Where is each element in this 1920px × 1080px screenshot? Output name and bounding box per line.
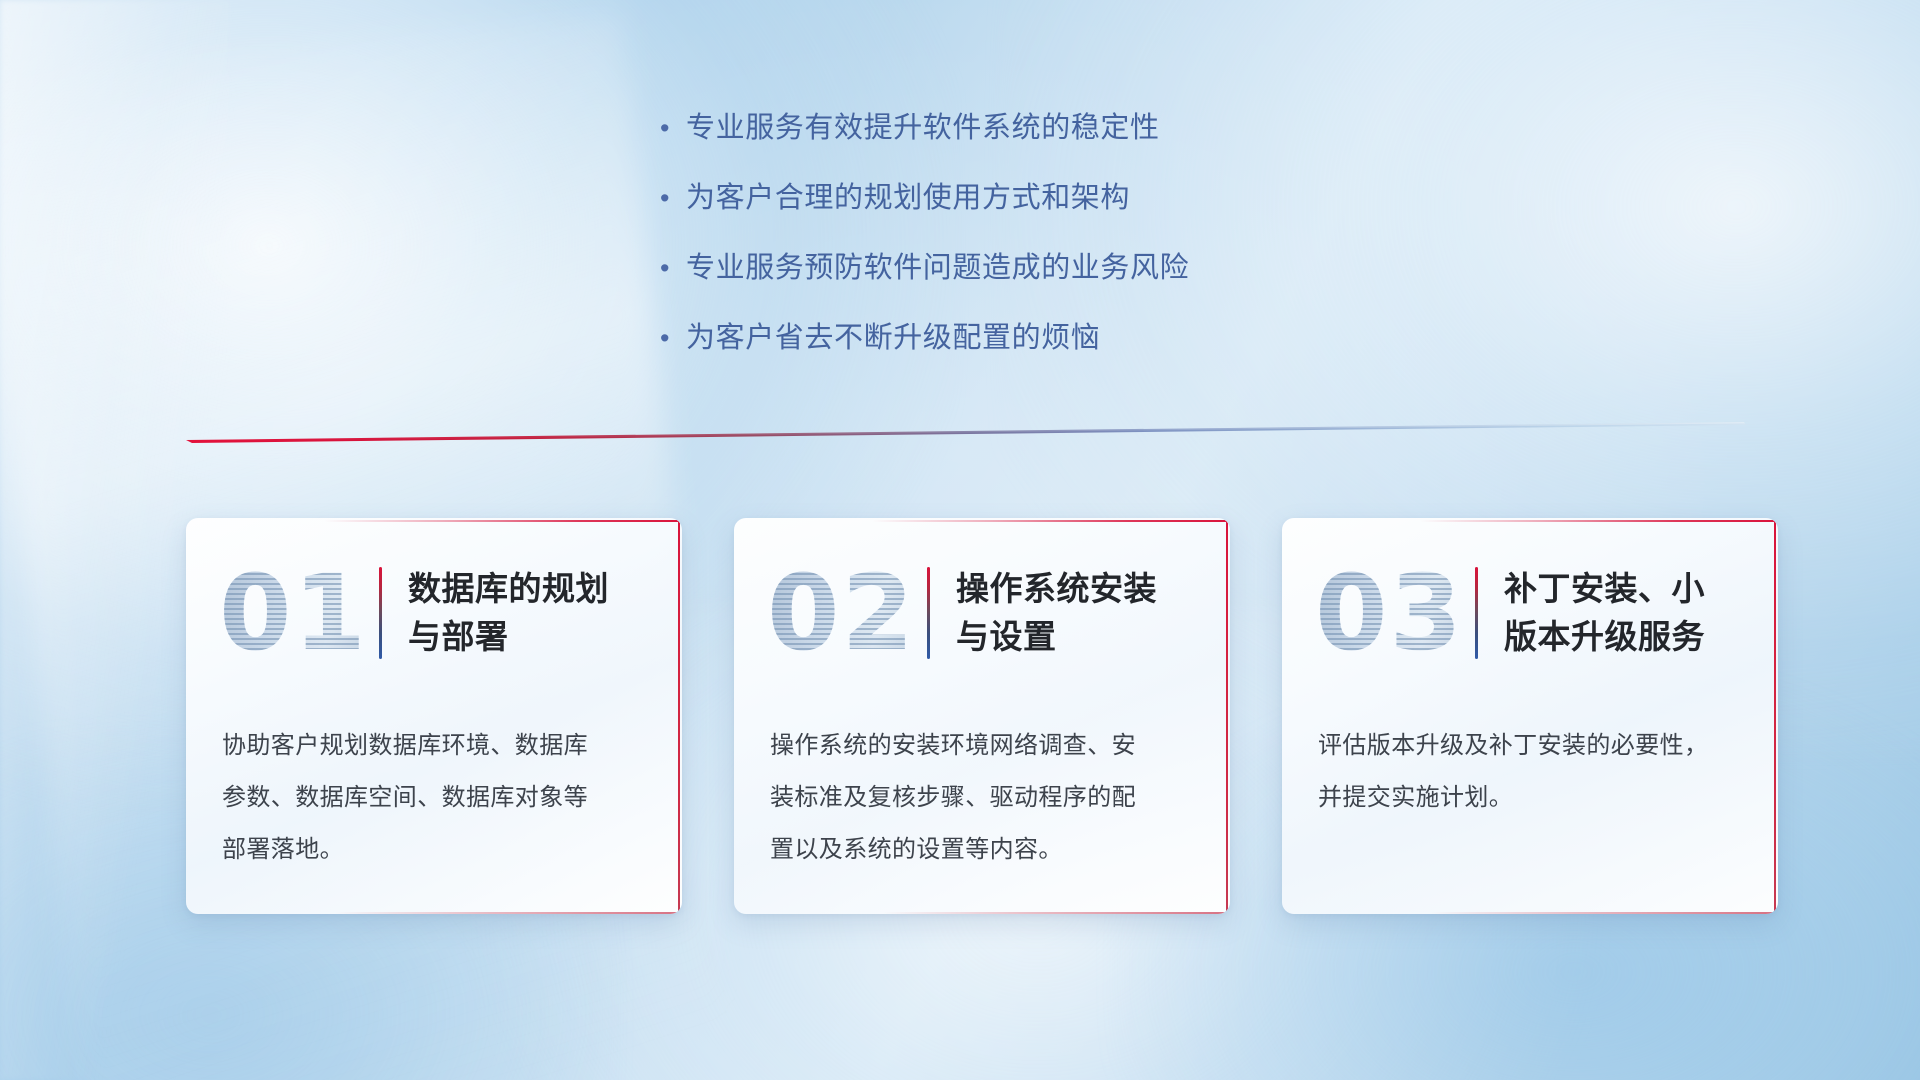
card-title-line: 数据库的规划 [408,570,609,607]
benefits-bullet-list: • 专业服务有效提升软件系统的稳定性 • 为客户合理的规划使用方式和架构 • 专… [660,108,1460,388]
bullet-text: 为客户合理的规划使用方式和架构 [686,178,1130,219]
card-body: 评估版本升级及补丁安装的必要性， 并提交实施计划。 [1282,678,1778,862]
bullet-text: 为客户省去不断升级配置的烦恼 [686,318,1100,359]
service-card-list: 01 数据库的规划 与部署 协助客户规划数据库环境、数据库 参数、数据库空间、数… [186,518,1778,914]
card-title-line: 与设置 [956,618,1057,655]
card-body-line: 部署落地。 [222,824,646,876]
card-number: 03 [1312,561,1467,665]
list-item: • 为客户合理的规划使用方式和架构 [660,178,1460,219]
bullet-marker-icon: • [660,248,686,289]
service-card-03[interactable]: 03 补丁安装、小 版本升级服务 评估版本升级及补丁安装的必要性， 并提交实施计… [1282,518,1778,914]
card-body-line: 并提交实施计划。 [1318,772,1742,824]
card-title-line: 操作系统安装 [956,570,1157,607]
card-header: 03 补丁安装、小 版本升级服务 [1282,518,1778,678]
card-number: 02 [764,561,919,665]
list-item: • 为客户省去不断升级配置的烦恼 [660,318,1460,359]
card-body-line: 操作系统的安装环境网络调查、安 [770,720,1194,772]
card-title-line: 补丁安装、小 [1504,570,1705,607]
card-title-line: 版本升级服务 [1504,618,1705,655]
card-body: 协助客户规划数据库环境、数据库 参数、数据库空间、数据库对象等 部署落地。 [186,678,682,914]
card-body-line: 置以及系统的设置等内容。 [770,824,1194,876]
card-body: 操作系统的安装环境网络调查、安 装标准及复核步骤、驱动程序的配 置以及系统的设置… [734,678,1230,914]
card-number: 01 [216,561,371,665]
service-card-01[interactable]: 01 数据库的规划 与部署 协助客户规划数据库环境、数据库 参数、数据库空间、数… [186,518,682,914]
card-title: 数据库的规划 与部署 [408,565,652,661]
card-body-line: 参数、数据库空间、数据库对象等 [222,772,646,824]
bullet-marker-icon: • [660,318,686,359]
list-item: • 专业服务有效提升软件系统的稳定性 [660,108,1460,149]
section-divider [186,422,1746,444]
card-divider-rule [1475,567,1478,659]
card-divider-rule [927,567,930,659]
card-title: 操作系统安装 与设置 [956,565,1200,661]
list-item: • 专业服务预防软件问题造成的业务风险 [660,248,1460,289]
card-accent-bottom [1431,912,1778,914]
card-divider-rule [379,567,382,659]
bullet-text: 专业服务预防软件问题造成的业务风险 [686,248,1189,289]
bullet-marker-icon: • [660,178,686,219]
card-title-line: 与部署 [408,618,509,655]
divider-gradient-icon [186,422,1746,444]
card-header: 02 操作系统安装 与设置 [734,518,1230,678]
bullet-text: 专业服务有效提升软件系统的稳定性 [686,108,1160,149]
card-body-line: 协助客户规划数据库环境、数据库 [222,720,646,772]
card-body-line: 评估版本升级及补丁安装的必要性， [1318,720,1742,772]
card-body-line: 装标准及复核步骤、驱动程序的配 [770,772,1194,824]
card-title: 补丁安装、小 版本升级服务 [1504,565,1748,661]
service-card-02[interactable]: 02 操作系统安装 与设置 操作系统的安装环境网络调查、安 装标准及复核步骤、驱… [734,518,1230,914]
bullet-marker-icon: • [660,108,686,149]
card-header: 01 数据库的规划 与部署 [186,518,682,678]
